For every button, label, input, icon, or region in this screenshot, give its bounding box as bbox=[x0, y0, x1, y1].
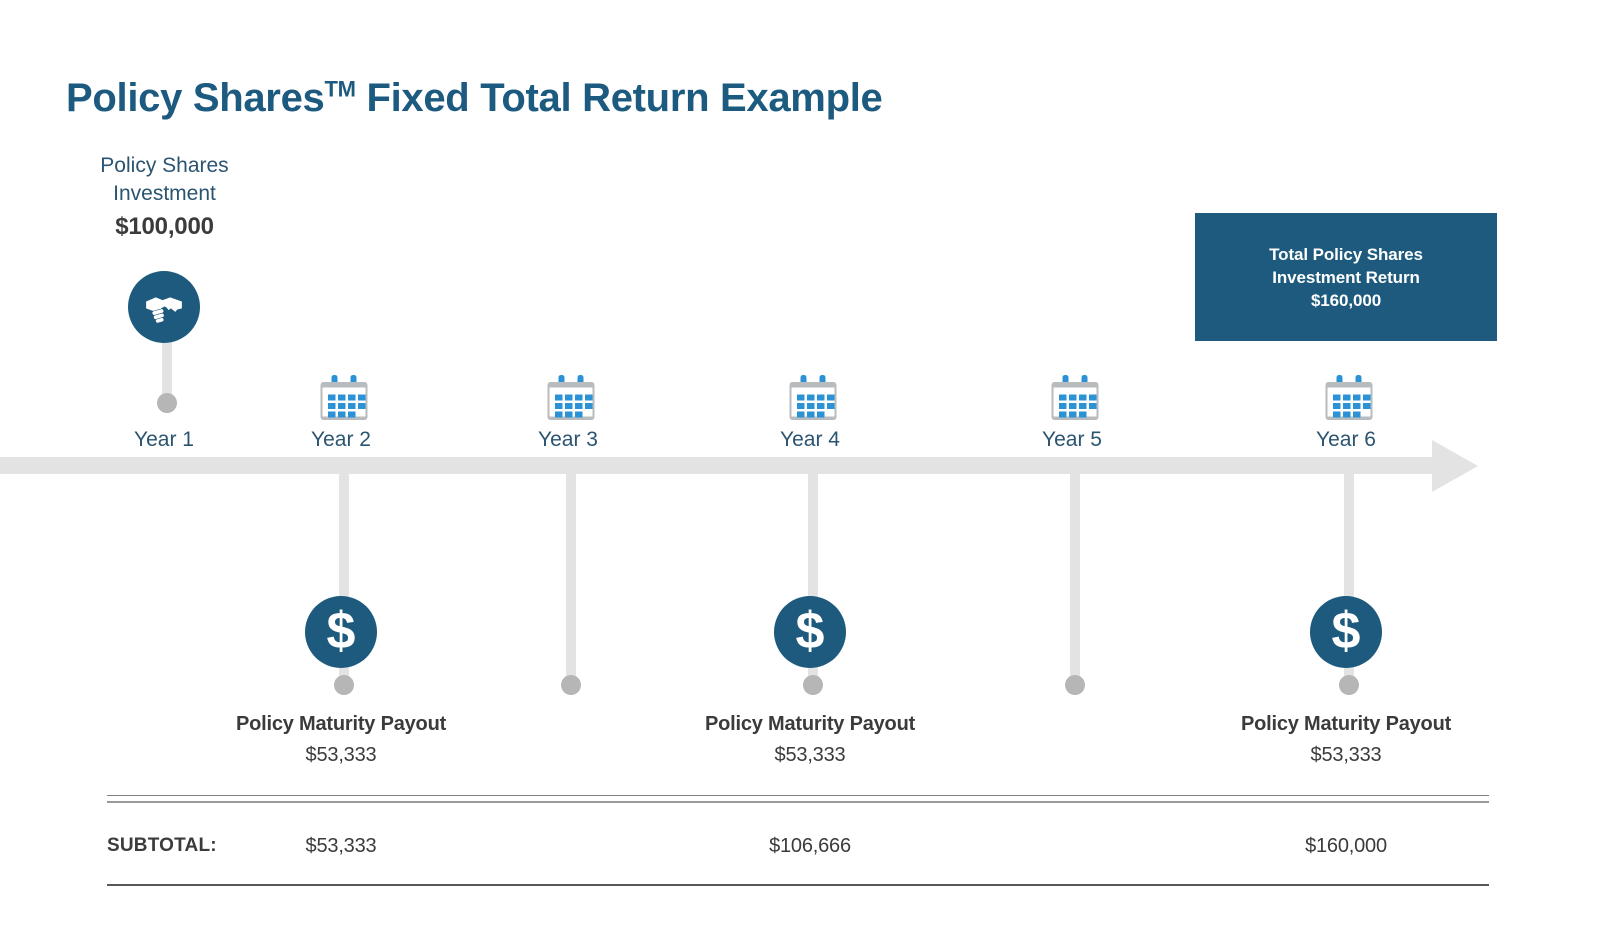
year-6-payout-amount: $53,333 bbox=[1196, 744, 1496, 767]
subtotal-value-2: $106,666 bbox=[660, 835, 960, 858]
calendar-icon bbox=[1324, 375, 1376, 421]
investment-label-line1: Policy Shares bbox=[62, 152, 267, 180]
year-1-axis-dot bbox=[157, 393, 177, 413]
year-6-payout-label: Policy Maturity Payout bbox=[1196, 713, 1496, 736]
year-4-payout-label: Policy Maturity Payout bbox=[660, 713, 960, 736]
investment-callout: Policy Shares Investment $100,000 bbox=[62, 152, 267, 241]
total-return-line2: Investment Return bbox=[1272, 266, 1420, 289]
timeline-axis bbox=[0, 457, 1440, 474]
trademark-symbol: TM bbox=[324, 77, 355, 102]
subtotal-rule-upper bbox=[107, 795, 1489, 796]
year-4-payout-amount: $53,333 bbox=[660, 744, 960, 767]
calendar-icon bbox=[1050, 375, 1102, 421]
subtotal-rule-upper-2 bbox=[107, 801, 1489, 803]
page-title: Policy SharesTM Fixed Total Return Examp… bbox=[66, 76, 882, 121]
dollar-glyph: $ bbox=[1332, 605, 1361, 657]
subtotal-rule-lower bbox=[107, 884, 1489, 886]
page-title-text-before: Policy Shares bbox=[66, 76, 324, 120]
year-6-label: Year 6 bbox=[1216, 428, 1476, 452]
calendar-icon bbox=[546, 375, 598, 421]
dollar-icon: $ bbox=[1310, 596, 1382, 668]
investment-label-line2: Investment bbox=[62, 180, 267, 208]
dollar-icon: $ bbox=[305, 596, 377, 668]
year-5-payout-dot bbox=[1065, 675, 1085, 695]
calendar-icon bbox=[319, 375, 371, 421]
year-2-label: Year 2 bbox=[211, 428, 471, 452]
total-return-box: Total Policy Shares Investment Return $1… bbox=[1195, 213, 1497, 341]
handshake-icon bbox=[128, 271, 200, 343]
year-2-payout-label: Policy Maturity Payout bbox=[191, 713, 491, 736]
year-3-label: Year 3 bbox=[438, 428, 698, 452]
total-return-line1: Total Policy Shares bbox=[1269, 243, 1423, 266]
subtotal-value-3: $160,000 bbox=[1196, 835, 1496, 858]
year-4-label: Year 4 bbox=[680, 428, 940, 452]
year-3-stem-lower bbox=[566, 470, 576, 690]
year-6-payout-dot bbox=[1339, 675, 1359, 695]
infographic-canvas: Policy SharesTM Fixed Total Return Examp… bbox=[0, 0, 1599, 941]
calendar-icon bbox=[788, 375, 840, 421]
dollar-icon: $ bbox=[774, 596, 846, 668]
year-3-payout-dot bbox=[561, 675, 581, 695]
dollar-glyph: $ bbox=[796, 605, 825, 657]
year-5-stem-lower bbox=[1070, 470, 1080, 690]
year-5-label: Year 5 bbox=[942, 428, 1202, 452]
year-2-payout-dot bbox=[334, 675, 354, 695]
investment-amount: $100,000 bbox=[62, 213, 267, 241]
year-4-payout-dot bbox=[803, 675, 823, 695]
subtotal-value-1: $53,333 bbox=[191, 835, 491, 858]
page-title-text-after: Fixed Total Return Example bbox=[356, 76, 883, 120]
total-return-amount: $160,000 bbox=[1311, 289, 1381, 312]
year-2-payout-amount: $53,333 bbox=[191, 744, 491, 767]
dollar-glyph: $ bbox=[327, 605, 356, 657]
